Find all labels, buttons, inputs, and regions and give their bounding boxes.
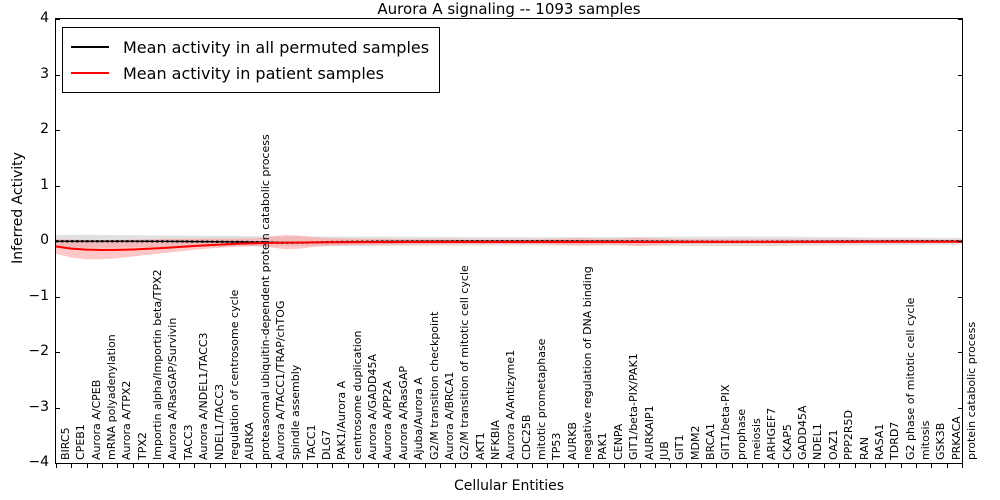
x-tick-mark (332, 464, 333, 468)
y-tick-mark (55, 19, 60, 20)
x-tick-mark (455, 464, 456, 468)
x-tick-mark (778, 464, 779, 468)
x-tick-mark (425, 464, 426, 468)
x-axis-title: Cellular Entities (55, 478, 963, 494)
y-tick-mark (55, 75, 60, 76)
x-tick-label: PRKACA (951, 416, 962, 460)
x-tick-label: BRCA1 (705, 423, 716, 460)
x-tick-mark (348, 464, 349, 468)
x-tick-mark (901, 464, 902, 468)
x-tick-label: MDM2 (690, 426, 701, 460)
chart-figure: Aurora A signaling -- 1093 samples 43210… (0, 0, 1000, 500)
x-tick-mark (240, 464, 241, 468)
x-tick-mark (931, 464, 932, 468)
x-tick-mark (547, 464, 548, 468)
x-tick-mark (440, 464, 441, 468)
x-tick-label: PPP2R5D (843, 410, 854, 460)
x-tick-mark (225, 464, 226, 468)
x-tick-label: AURKB (567, 422, 578, 460)
x-tick-label: NDEL1/TACC3 (214, 384, 225, 460)
legend-label-permuted: Mean activity in all permuted samples (123, 38, 429, 57)
x-tick-label: G2 phase of mitotic cell cycle (905, 298, 916, 460)
x-tick-label: ARHGEF7 (766, 408, 777, 460)
x-tick-mark (163, 464, 164, 468)
y-tick-mark (55, 130, 60, 131)
y-tick-mark (55, 463, 60, 464)
x-tick-mark (578, 464, 579, 468)
y-axis-title: Inferred Activity (10, 38, 26, 378)
x-tick-mark (117, 464, 118, 468)
y-tick-mark (958, 130, 963, 131)
x-tick-mark (133, 464, 134, 468)
x-tick-label: GIT1 (674, 435, 685, 461)
x-tick-label: negative regulation of DNA binding (582, 266, 593, 460)
y-tick-mark (958, 463, 963, 464)
x-tick-label: protein catabolic process (966, 322, 977, 460)
legend-label-patient: Mean activity in patient samples (123, 64, 384, 83)
x-tick-label: TP53 (551, 433, 562, 460)
x-tick-mark (655, 464, 656, 468)
x-tick-label: AURKAIP1 (644, 405, 655, 460)
x-tick-mark (732, 464, 733, 468)
x-tick-label: Aurora A/BRCA1 (444, 372, 455, 460)
x-tick-mark (471, 464, 472, 468)
x-tick-mark (624, 464, 625, 468)
x-tick-mark (87, 464, 88, 468)
legend-item-patient: Mean activity in patient samples (71, 60, 429, 86)
x-tick-mark (194, 464, 195, 468)
x-tick-mark (394, 464, 395, 468)
x-tick-label: Aurora A/GADD45A (367, 354, 378, 460)
x-tick-label: PAK1 (597, 432, 608, 460)
x-tick-mark (885, 464, 886, 468)
y-tick-mark (55, 408, 60, 409)
x-tick-mark (824, 464, 825, 468)
x-tick-mark (716, 464, 717, 468)
x-tick-label: CDC25B (521, 415, 532, 460)
x-tick-label: GIT1/beta-PIX/PAK1 (628, 353, 639, 460)
x-tick-label: GADD45A (797, 405, 808, 460)
x-tick-label: RASA1 (874, 424, 885, 460)
y-tick-mark (958, 186, 963, 187)
x-tick-mark (962, 464, 963, 468)
y-tick-mark (55, 297, 60, 298)
x-tick-mark (793, 464, 794, 468)
x-tick-mark (378, 464, 379, 468)
x-tick-mark (71, 464, 72, 468)
x-tick-label: Aurora A/RasGAP/Survivin (167, 318, 178, 460)
x-tick-label: Aurora A/Antizyme1 (505, 350, 516, 460)
x-tick-label: PAK1/Aurora A (336, 381, 347, 460)
x-tick-label: CENPA (613, 424, 624, 460)
x-tick-label: Importin alpha/Importin beta/TPX2 (152, 269, 163, 460)
x-tick-label: spindle assembly (290, 365, 301, 460)
x-tick-label: TDRD7 (889, 422, 900, 460)
y-tick-mark (958, 241, 963, 242)
x-tick-mark (486, 464, 487, 468)
x-tick-mark (839, 464, 840, 468)
x-tick-label: GIT1/beta-PIX (720, 385, 731, 460)
x-tick-mark (762, 464, 763, 468)
x-tick-label: CKAP5 (782, 424, 793, 460)
x-tick-label: GSK3B (935, 423, 946, 460)
x-tick-mark (947, 464, 948, 468)
x-tick-label: OAZ1 (828, 429, 839, 460)
x-tick-label: TACC3 (183, 424, 194, 460)
x-tick-label: G2/M transition of mitotic cell cycle (459, 265, 470, 460)
legend-line-swatch-patient (71, 72, 109, 74)
x-tick-mark (210, 464, 211, 468)
x-tick-mark (808, 464, 809, 468)
x-tick-label: meiosis (751, 418, 762, 460)
x-tick-label: Aurora A/PP2A (382, 381, 393, 460)
x-tick-label: G2/M transition checkpoint (429, 312, 440, 460)
x-tick-label: AKT1 (475, 432, 486, 460)
x-tick-mark (56, 464, 57, 468)
legend-line-swatch-permuted (71, 46, 109, 48)
x-tick-mark (747, 464, 748, 468)
x-tick-label: Ajuba/Aurora A (413, 377, 424, 460)
y-tick-mark (55, 241, 60, 242)
y-tick-mark (55, 186, 60, 187)
x-tick-mark (609, 464, 610, 468)
x-tick-label: JUB (659, 441, 670, 460)
x-tick-label: regulation of centrosome cycle (229, 290, 240, 460)
x-tick-label: Aurora A/NDEL1/TACC3 (198, 332, 209, 460)
x-tick-label: mRNA polyadenylation (106, 334, 117, 460)
x-tick-mark (870, 464, 871, 468)
x-tick-mark (271, 464, 272, 468)
x-tick-mark (701, 464, 702, 468)
x-tick-label: AURKA (244, 422, 255, 460)
x-tick-label: NDEL1 (812, 423, 823, 460)
chart-legend: Mean activity in all permuted samples Me… (62, 27, 440, 93)
x-tick-mark (317, 464, 318, 468)
x-tick-label: DLG7 (321, 430, 332, 460)
x-tick-mark (517, 464, 518, 468)
x-tick-mark (686, 464, 687, 468)
x-tick-mark (302, 464, 303, 468)
x-tick-label: Aurora A/RasGAP (398, 366, 409, 460)
x-tick-label: RAN (859, 437, 870, 460)
y-tick-label: 4 (5, 11, 49, 25)
y-tick-label: −3 (5, 400, 49, 414)
y-tick-mark (958, 75, 963, 76)
page-title: Aurora A signaling -- 1093 samples (55, 0, 963, 18)
x-tick-label: proteasomal ubiquitin-dependent protein … (260, 134, 271, 460)
x-tick-mark (363, 464, 364, 468)
x-tick-label: Aurora A/TPX2 (121, 381, 132, 460)
x-tick-label: centrosome duplication (352, 331, 363, 460)
x-tick-label: mitosis (920, 421, 931, 460)
x-tick-label: prophase (736, 409, 747, 460)
x-tick-mark (916, 464, 917, 468)
x-tick-mark (409, 464, 410, 468)
x-tick-mark (532, 464, 533, 468)
x-tick-mark (670, 464, 671, 468)
x-tick-label: mitotic prometaphase (536, 339, 547, 460)
x-tick-mark (501, 464, 502, 468)
x-tick-mark (286, 464, 287, 468)
x-tick-label: TACC1 (306, 424, 317, 460)
x-tick-label: TPX2 (137, 432, 148, 460)
x-tick-label: CPEB1 (75, 424, 86, 460)
y-tick-mark (55, 352, 60, 353)
x-tick-mark (563, 464, 564, 468)
x-tick-mark (855, 464, 856, 468)
x-tick-label: Aurora A/CPEB (91, 380, 102, 460)
x-tick-mark (148, 464, 149, 468)
y-tick-label: −4 (5, 455, 49, 469)
legend-item-permuted: Mean activity in all permuted samples (71, 34, 429, 60)
x-tick-mark (102, 464, 103, 468)
x-tick-label: Aurora A/TACC1/TRAP/chTOG (275, 301, 286, 460)
y-tick-mark (958, 19, 963, 20)
x-tick-mark (179, 464, 180, 468)
x-tick-mark (640, 464, 641, 468)
y-tick-mark (958, 297, 963, 298)
x-tick-mark (593, 464, 594, 468)
y-tick-mark (958, 408, 963, 409)
x-tick-label: BIRC5 (60, 427, 71, 460)
y-tick-mark (958, 352, 963, 353)
x-tick-label: NFKBIA (490, 420, 501, 460)
x-tick-mark (256, 464, 257, 468)
